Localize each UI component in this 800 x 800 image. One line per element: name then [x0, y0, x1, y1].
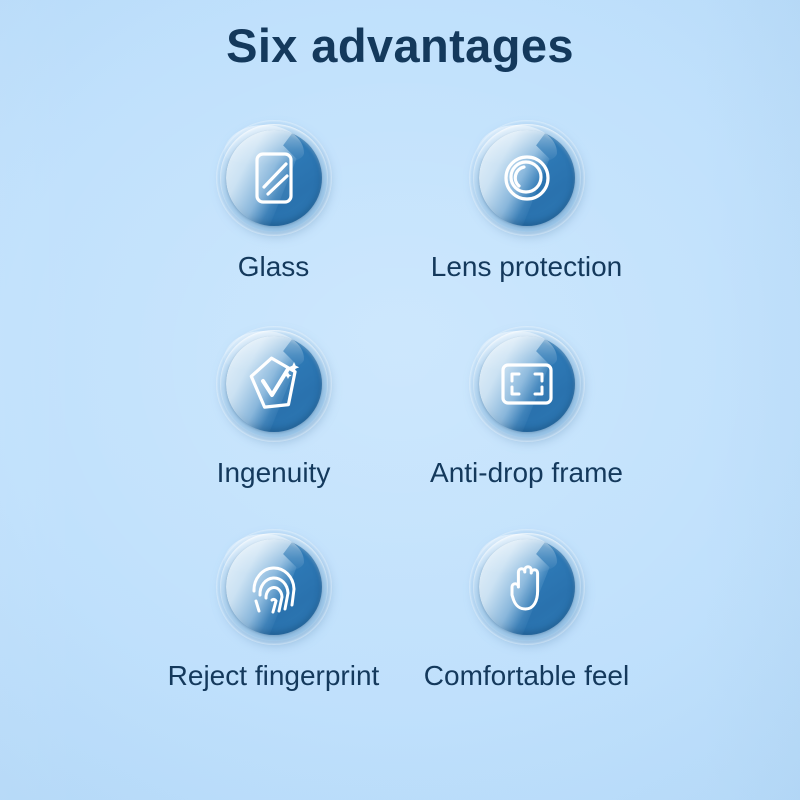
- feature-badge[interactable]: [216, 326, 332, 442]
- feature-label: Ingenuity: [217, 458, 331, 489]
- corner-frame-icon: [479, 336, 575, 432]
- feature-item-glass[interactable]: Glass: [147, 120, 400, 283]
- camera-lens-icon: [479, 130, 575, 226]
- hand-palm-icon: [479, 539, 575, 635]
- feature-item-anti-drop-frame[interactable]: Anti-drop frame: [400, 326, 653, 489]
- feature-badge[interactable]: [469, 120, 585, 236]
- feature-row: Glass Len: [0, 120, 800, 283]
- feature-badge[interactable]: [216, 120, 332, 236]
- feature-grid: Glass Len: [0, 120, 800, 691]
- feature-item-lens-protection[interactable]: Lens protection: [400, 120, 653, 283]
- feature-label: Comfortable feel: [424, 661, 629, 692]
- feature-item-comfortable-feel[interactable]: Comfortable feel: [400, 529, 653, 692]
- feature-row: Reject fingerprint Comfortable feel: [0, 529, 800, 692]
- page-title: Six advantages: [0, 18, 800, 73]
- six-advantages-poster: Six advantages: [0, 0, 800, 800]
- glass-screen-protector-icon: [226, 130, 322, 226]
- feature-row: Ingenuity: [0, 326, 800, 489]
- feature-label: Glass: [238, 252, 310, 283]
- diamond-check-icon: [226, 336, 322, 432]
- fingerprint-icon: [226, 539, 322, 635]
- feature-badge[interactable]: [469, 326, 585, 442]
- feature-badge[interactable]: [216, 529, 332, 645]
- feature-item-ingenuity[interactable]: Ingenuity: [147, 326, 400, 489]
- feature-label: Anti-drop frame: [430, 458, 623, 489]
- feature-badge[interactable]: [469, 529, 585, 645]
- feature-label: Reject fingerprint: [168, 661, 380, 692]
- feature-item-reject-fingerprint[interactable]: Reject fingerprint: [147, 529, 400, 692]
- feature-label: Lens protection: [431, 252, 622, 283]
